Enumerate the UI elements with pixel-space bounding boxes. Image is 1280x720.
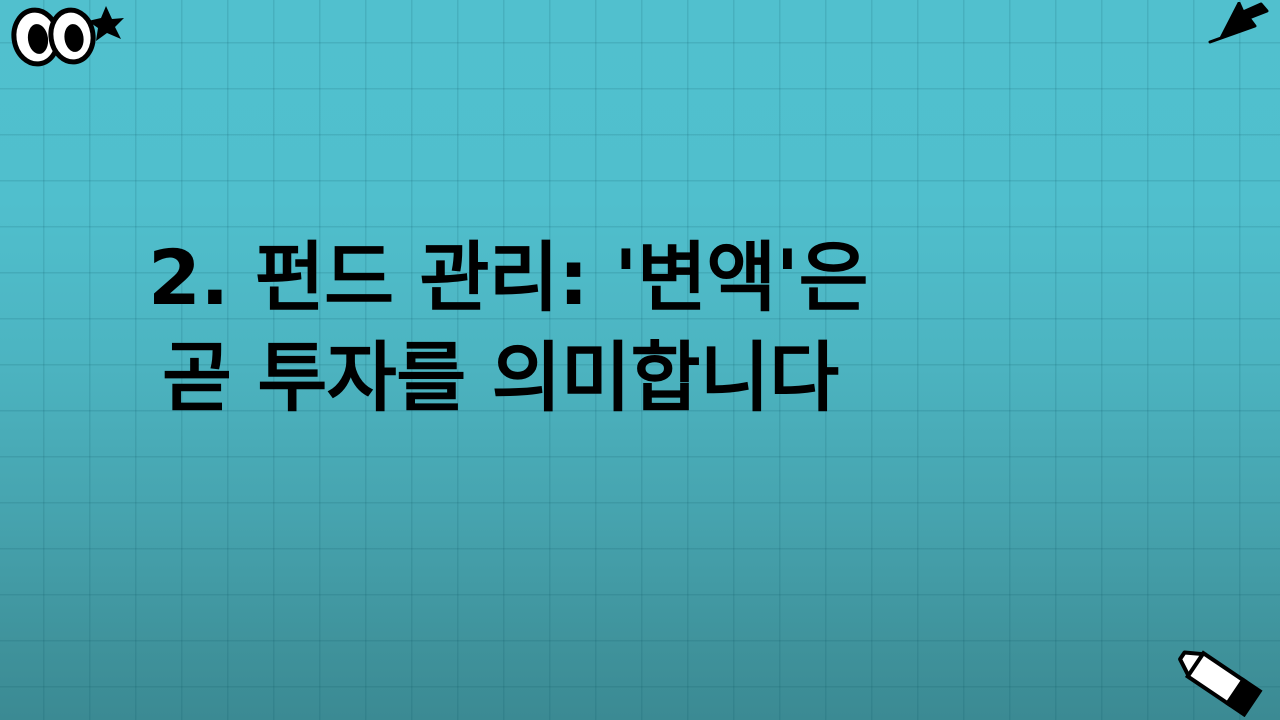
- pencil-icon: [1160, 645, 1272, 717]
- slide-canvas: 2. 펀드 관리: '변액'은 곧 투자를 의미합니다: [0, 0, 1280, 720]
- title-line-2: 곧 투자를 의미합니다: [162, 328, 1148, 428]
- title-line-1: 2. 펀드 관리: '변액'은: [148, 228, 1148, 328]
- googly-eyes-icon: [6, 2, 124, 68]
- arrow-icon: [1205, 2, 1271, 50]
- slide-title: 2. 펀드 관리: '변액'은 곧 투자를 의미합니다: [148, 228, 1148, 429]
